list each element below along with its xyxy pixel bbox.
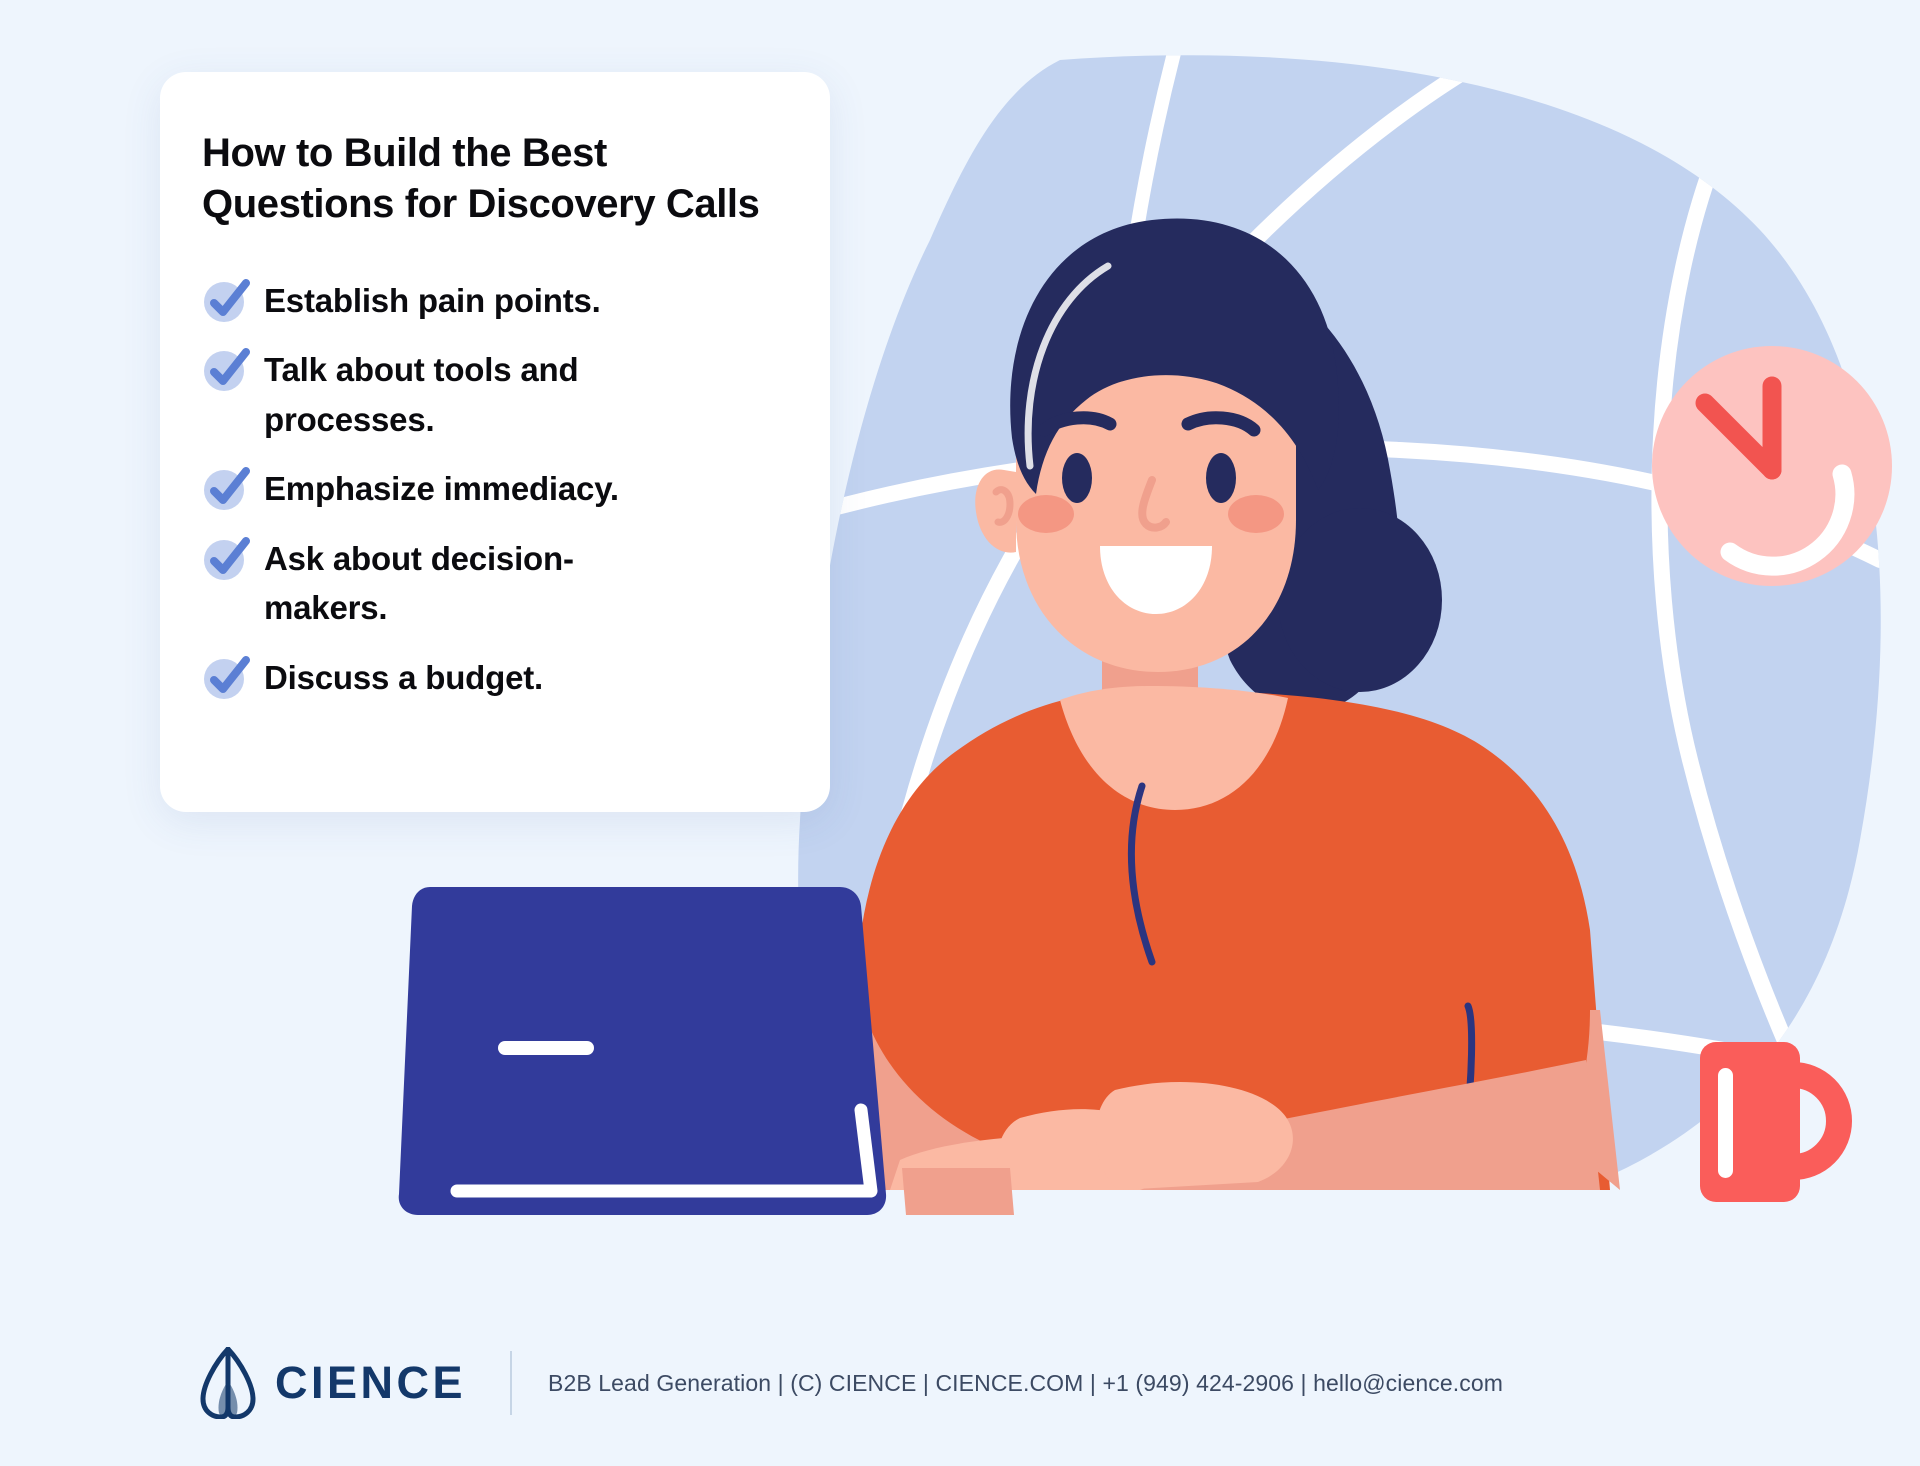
list-item-label: Establish pain points.	[264, 276, 601, 326]
coffee-mug-illustration	[1700, 1042, 1839, 1202]
list-item-label: Ask about decision-makers.	[264, 534, 684, 633]
list-item-label: Talk about tools and processes.	[264, 345, 684, 444]
check-circle-icon	[202, 466, 254, 512]
check-circle-icon	[202, 536, 254, 582]
footer-divider	[510, 1351, 512, 1415]
list-item: Discuss a budget.	[202, 653, 782, 703]
clock-illustration	[1652, 346, 1892, 586]
list-item: Ask about decision-makers.	[202, 534, 782, 633]
info-card: How to Build the Best Questions for Disc…	[160, 72, 830, 812]
list-item: Emphasize immediacy.	[202, 464, 782, 514]
check-circle-icon	[202, 278, 254, 324]
cience-logo-icon	[197, 1347, 259, 1419]
check-circle-icon	[202, 655, 254, 701]
poster-canvas: How to Build the Best Questions for Disc…	[0, 0, 1920, 1466]
list-item: Establish pain points.	[202, 276, 782, 326]
list-item-label: Emphasize immediacy.	[264, 464, 619, 514]
footer-contact-info: B2B Lead Generation | (C) CIENCE | CIENC…	[548, 1370, 1503, 1397]
list-item-label: Discuss a budget.	[264, 653, 543, 703]
page-title: How to Build the Best Questions for Disc…	[202, 128, 782, 230]
list-item: Talk about tools and processes.	[202, 345, 782, 444]
cience-logo-wordmark: CIENCE	[275, 1357, 466, 1409]
check-circle-icon	[202, 347, 254, 393]
checklist: Establish pain points. Talk about tools …	[202, 276, 782, 703]
footer-bar: CIENCE B2B Lead Generation | (C) CIENCE …	[0, 1300, 1920, 1466]
